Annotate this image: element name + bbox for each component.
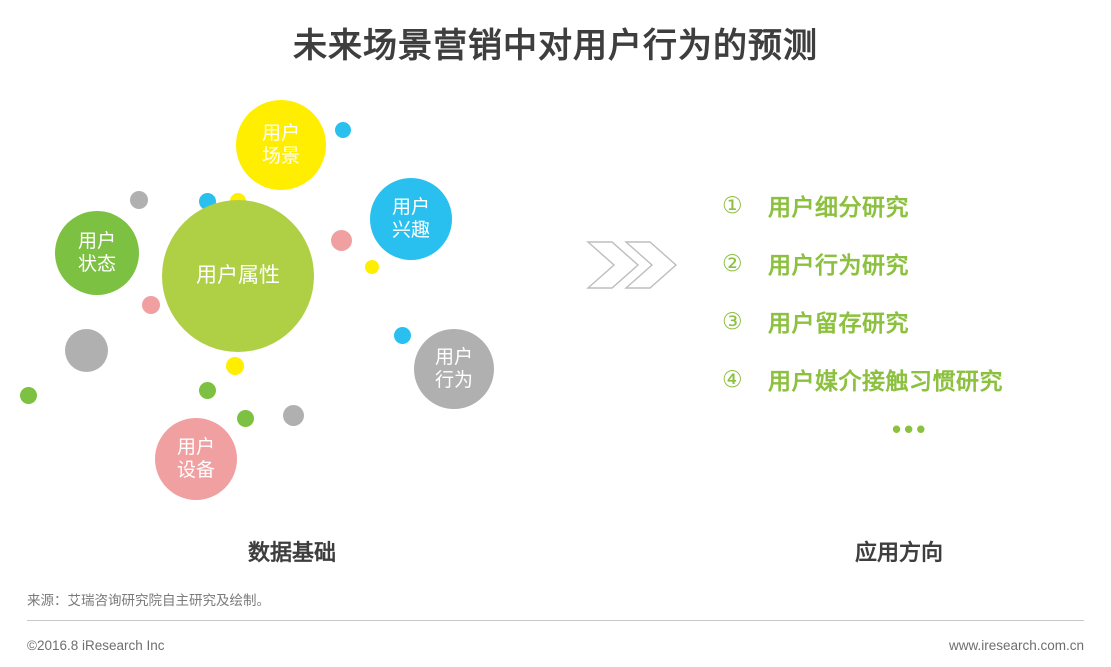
dot-gray-low bbox=[283, 405, 304, 426]
application-item-number: ② bbox=[722, 252, 768, 275]
dot-gray-upper-left bbox=[130, 191, 148, 209]
dot-pink-right bbox=[331, 230, 352, 251]
bubble-user-interest: 用户兴趣 bbox=[370, 178, 452, 260]
bubble-label-line: 兴趣 bbox=[392, 219, 430, 242]
bubble-user-behavior: 用户行为 bbox=[414, 329, 494, 409]
bubble-label-line: 用户属性 bbox=[196, 263, 280, 289]
bubble-user-status: 用户状态 bbox=[55, 211, 139, 295]
dot-blue-top bbox=[335, 122, 351, 138]
application-item-number: ④ bbox=[722, 368, 768, 391]
dot-green-far-left bbox=[20, 387, 37, 404]
bubble-label-line: 场景 bbox=[262, 145, 300, 168]
double-chevron-right-icon bbox=[586, 236, 678, 294]
bubble-user-scene: 用户场景 bbox=[236, 100, 326, 190]
bubble-label-line: 用户 bbox=[262, 122, 300, 145]
bubble-label-line: 设备 bbox=[177, 459, 215, 482]
bubble-label-line: 用户 bbox=[435, 346, 473, 369]
application-item-number: ① bbox=[722, 194, 768, 217]
footer-divider bbox=[27, 620, 1084, 621]
application-item-label: 用户细分研究 bbox=[768, 188, 909, 222]
source-note: 来源：艾瑞咨询研究院自主研究及绘制。 bbox=[27, 589, 270, 609]
dot-gray-left bbox=[65, 329, 108, 372]
website-url: www.iresearch.com.cn bbox=[949, 638, 1084, 653]
application-item-label: 用户行为研究 bbox=[768, 246, 909, 280]
application-direction-caption: 应用方向 bbox=[855, 535, 943, 567]
bubble-label-line: 用户 bbox=[78, 230, 116, 253]
application-item-2[interactable]: ②用户行为研究 bbox=[722, 234, 1102, 292]
bubble-diagram: 用户属性用户场景用户兴趣用户状态用户行为用户设备 bbox=[0, 80, 570, 530]
dot-green-low bbox=[237, 410, 254, 427]
dot-yellow-rim-bot bbox=[226, 357, 244, 375]
application-item-4[interactable]: ④用户媒介接触习惯研究 bbox=[722, 350, 1102, 408]
application-item-1[interactable]: ①用户细分研究 bbox=[722, 176, 1102, 234]
bubble-label-line: 状态 bbox=[78, 253, 116, 276]
dot-pink-left bbox=[142, 296, 160, 314]
bubble-user-device: 用户设备 bbox=[155, 418, 237, 500]
application-item-number: ③ bbox=[722, 310, 768, 333]
application-list: ①用户细分研究②用户行为研究③用户留存研究④用户媒介接触习惯研究••• bbox=[722, 176, 1102, 442]
application-item-3[interactable]: ③用户留存研究 bbox=[722, 292, 1102, 350]
application-item-label: 用户留存研究 bbox=[768, 304, 909, 338]
bubble-label-line: 行为 bbox=[435, 369, 473, 392]
application-ellipsis: ••• bbox=[892, 416, 1102, 442]
bubble-user-attribute: 用户属性 bbox=[162, 200, 314, 352]
bubble-label-line: 用户 bbox=[392, 196, 430, 219]
bubble-label-line: 用户 bbox=[177, 436, 215, 459]
dot-yellow-right bbox=[365, 260, 379, 274]
data-foundation-caption: 数据基础 bbox=[248, 535, 336, 567]
dot-green-mid bbox=[199, 382, 216, 399]
slide-canvas: 未来场景营销中对用户行为的预测 用户属性用户场景用户兴趣用户状态用户行为用户设备… bbox=[0, 0, 1111, 667]
application-item-label: 用户媒介接触习惯研究 bbox=[768, 362, 1003, 396]
page-title: 未来场景营销中对用户行为的预测 bbox=[0, 18, 1111, 67]
dot-blue-lower bbox=[394, 327, 411, 344]
copyright-text: ©2016.8 iResearch Inc bbox=[27, 638, 165, 653]
